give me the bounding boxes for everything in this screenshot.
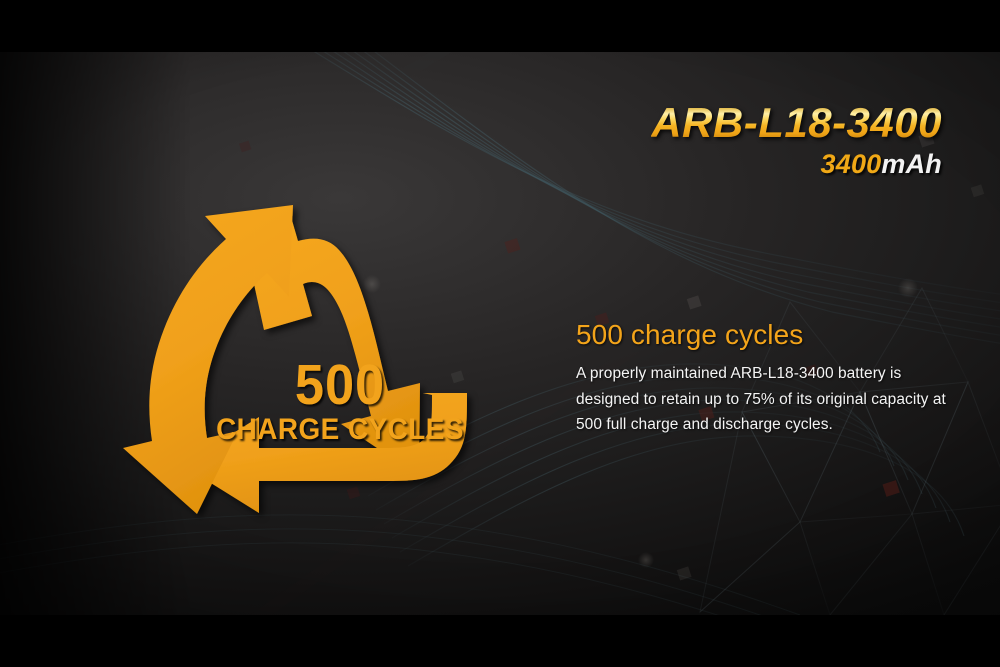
- capacity-value: 3400: [821, 149, 882, 179]
- product-capacity: 3400mAh: [651, 148, 942, 180]
- product-model-title: ARB-L18-3400: [651, 100, 942, 146]
- feature-heading: 500 charge cycles: [576, 318, 966, 352]
- feature-block: 500 charge cycles A properly maintained …: [576, 318, 966, 438]
- letterbox-top: [0, 0, 1000, 52]
- product-title-block: ARB-L18-3400 3400mAh: [651, 100, 942, 180]
- feature-body-text: A properly maintained ARB-L18-3400 batte…: [576, 361, 966, 438]
- letterbox-bottom: [0, 615, 1000, 667]
- capacity-unit: mAh: [881, 149, 942, 179]
- recycling-arrows-icon: [120, 205, 560, 535]
- slide-canvas: 500 CHARGE CYCLES ARB-L18-3400 3400mAh 5…: [0, 0, 1000, 667]
